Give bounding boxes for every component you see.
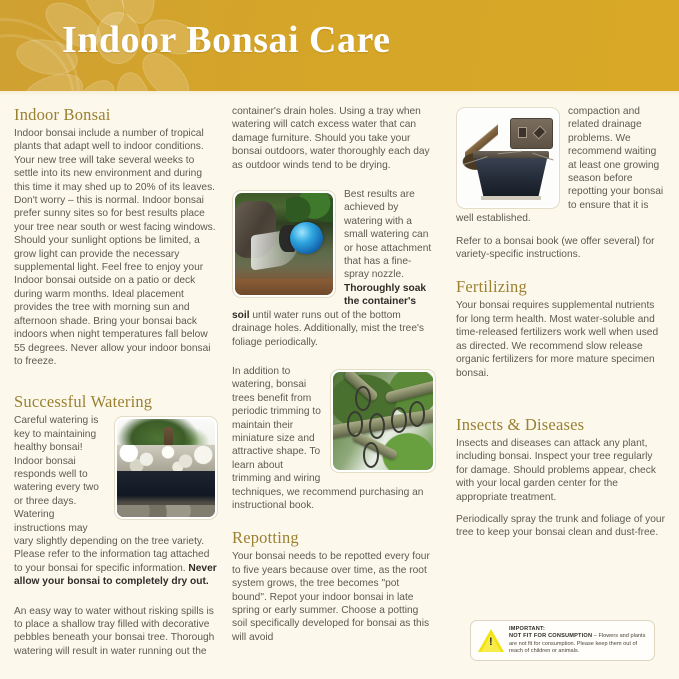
consumption-warning-box: ! IMPORTANT: NOT FIT FOR CONSUMPTION – F… xyxy=(470,620,655,661)
warning-text: IMPORTANT: NOT FIT FOR CONSUMPTION – Flo… xyxy=(509,626,649,656)
spacer xyxy=(456,270,666,277)
section-heading-successful-watering: Successful Watering xyxy=(14,392,218,412)
training-wire xyxy=(369,413,385,438)
warning-line-2: NOT FIT FOR CONSUMPTION – Flowers and pl… xyxy=(509,633,649,655)
brochure-content: Indoor Bonsai Indoor bonsai include a nu… xyxy=(0,97,679,679)
paragraph-insects-1: Insects and diseases can attack any plan… xyxy=(456,437,666,504)
training-wire xyxy=(391,407,407,432)
branch-shape xyxy=(385,379,433,403)
paragraph-fertilizing: Your bonsai requires supplemental nutrie… xyxy=(456,299,666,379)
paragraph-refer-book: Refer to a bonsai book (we offer several… xyxy=(456,235,666,262)
training-wire xyxy=(347,411,363,436)
photo-inner xyxy=(117,419,215,517)
spacer xyxy=(14,377,218,392)
brochure-page: Indoor Bonsai Care Indoor Bonsai Indoor … xyxy=(0,0,679,679)
training-wire xyxy=(409,401,425,426)
pot-body xyxy=(475,158,548,196)
pot-feet xyxy=(481,196,542,200)
foliage-shape xyxy=(286,193,333,222)
page-title: Indoor Bonsai Care xyxy=(62,18,391,62)
bonsai-pot-drainage-diagram-photo xyxy=(456,107,560,209)
soil-layer xyxy=(235,279,333,295)
column-middle: container's drain holes. Using a tray wh… xyxy=(232,105,436,653)
exclamation-glyph: ! xyxy=(489,637,493,648)
spacer xyxy=(232,181,436,188)
training-wire xyxy=(363,442,379,467)
spacer xyxy=(14,598,218,605)
wired-bonsai-branches-photo xyxy=(330,369,436,473)
training-wire xyxy=(355,386,371,411)
page-header: Indoor Bonsai Care xyxy=(0,0,679,91)
section-heading-fertilizing: Fertilizing xyxy=(456,277,666,297)
column-left: Indoor Bonsai Indoor bonsai include a nu… xyxy=(14,105,218,667)
blue-watering-can-photo xyxy=(232,190,336,298)
photo-inner xyxy=(333,372,433,470)
paragraph-indoor-bonsai: Indoor bonsai include a number of tropic… xyxy=(14,127,218,368)
spacer xyxy=(232,358,436,365)
spacer xyxy=(456,389,666,415)
photo-inner xyxy=(235,193,333,295)
warning-headline: NOT FIT FOR CONSUMPTION xyxy=(509,633,592,639)
paragraph-watering-2: An easy way to water without risking spi… xyxy=(14,605,218,659)
best-results-plain-1: Best results are achieved by watering wi… xyxy=(344,189,431,280)
drain-hole xyxy=(518,127,527,138)
best-results-plain-2: until water runs out of the bottom drain… xyxy=(232,310,424,348)
warning-line-1: IMPORTANT: xyxy=(509,626,649,633)
section-heading-insects-diseases: Insects & Diseases xyxy=(456,415,666,435)
section-heading-indoor-bonsai: Indoor Bonsai xyxy=(14,105,218,125)
paragraph-repotting: Your bonsai needs to be repotted every f… xyxy=(232,550,436,644)
column-right: compaction and related drainage problems… xyxy=(456,105,666,549)
drain-hole xyxy=(532,125,546,139)
pebble-tray xyxy=(117,505,215,518)
gravel-layer xyxy=(117,445,215,471)
paragraph-drain-holes: container's drain holes. Using a tray wh… xyxy=(232,105,436,172)
watering-can-body xyxy=(290,222,323,255)
bonsai-pot-with-gravel-photo xyxy=(114,416,218,520)
spacer xyxy=(232,521,436,528)
photo-inner xyxy=(459,110,557,206)
section-heading-repotting: Repotting xyxy=(232,528,436,548)
warning-triangle-icon: ! xyxy=(478,629,504,652)
paragraph-insects-2: Periodically spray the trunk and foliage… xyxy=(456,513,666,540)
drainage-hole-callout xyxy=(510,118,553,150)
